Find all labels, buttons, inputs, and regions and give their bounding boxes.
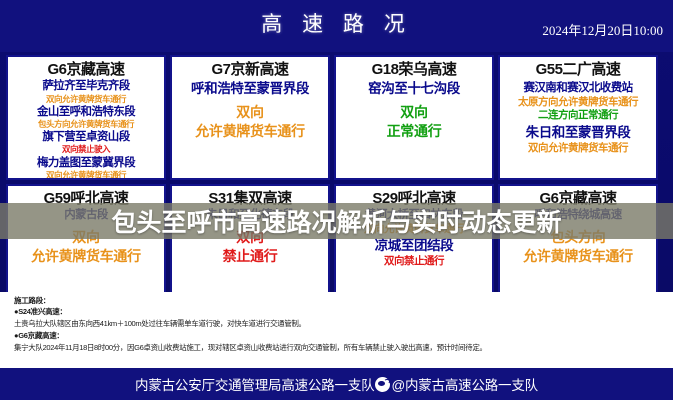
card-title: S31集双高速 (208, 190, 291, 207)
segment-status: 双向允许黄牌货车通行 (11, 94, 161, 105)
segment-name: 赛汉南和赛汉北收费站 (503, 81, 653, 95)
segment-name: 朱日和至化德东段 (175, 208, 325, 222)
construction-notice-panel: 施工路段： ●S24准兴高速： 土贵乌拉大队辖区由东向西41km＋100m处过往… (0, 292, 673, 368)
segment-row: 朱日和至化德东段 双向 禁止通行 (175, 208, 325, 265)
segment-status: 包头方向 (503, 228, 653, 247)
segment-status: 双向 (11, 228, 161, 247)
highway-card-grid: G6京藏高速 萨拉齐至毕克齐段 双向允许黄牌货车通行 金山至呼和浩特东段 包头方… (0, 55, 673, 309)
segment-name: 金山至呼和浩特东段 (11, 105, 161, 119)
segment-row: 呼和浩特绕城高速 包头方向 允许黄牌货车通行 (503, 208, 653, 265)
segment-status: 双向允许黄牌货车通行 (339, 223, 489, 237)
traffic-board: 高 速 路 况 2024年12月20日10:00 G6京藏高速 萨拉齐至毕克齐段… (0, 0, 673, 400)
segment-name: 萨拉齐至毕克齐段 (11, 79, 161, 93)
card-title: G55二广高速 (536, 61, 621, 78)
highway-card-g55-erguang[interactable]: G55二广高速 赛汉南和赛汉北收费站 太原方向允许黄牌货车通行 二连方向正常通行… (498, 55, 658, 180)
segment-status: 包头方向允许黄牌货车通行 (11, 119, 161, 130)
notice-road-s24: ●S24准兴高速： (14, 306, 665, 318)
weibo-icon (375, 377, 390, 392)
segment-row: 呼和浩特至蒙晋界段 双向 允许黄牌货车通行 (175, 81, 325, 141)
card-title: G6京藏高速 (47, 61, 124, 78)
segment-row: 朱日和至蒙晋界段 双向允许黄牌货车通行 (503, 125, 653, 156)
highway-card-zhurihe-huade[interactable]: S31集双高速 朱日和至化德东段 双向 禁止通行 (170, 184, 330, 309)
card-title: G18荣乌高速 (372, 61, 457, 78)
highway-card-g59-hubei[interactable]: G59呼北高速 内蒙古段 双向 允许黄牌货车通行 (6, 184, 166, 309)
segment-status-detail: 允许黄牌货车通行 (11, 247, 161, 266)
notice-text-g6: 集宁大队2024年11月18日8时00分，因G6卓资山收费站施工，现对辖区卓资山… (14, 342, 665, 354)
card-title: G59呼北高速 (44, 190, 129, 207)
highway-card-huhehaote-raocheng[interactable]: G6京藏高速 呼和浩特绕城高速 包头方向 允许黄牌货车通行 (498, 184, 658, 309)
timestamp: 2024年12月20日10:00 (542, 20, 663, 39)
segment-status-detail: 允许黄牌货车通行 (503, 247, 653, 266)
segment-status-detail: 正常通行 (339, 122, 489, 141)
segment-name: 黄河大桥至和林东段 (339, 208, 489, 222)
segment-row: 赛汉南和赛汉北收费站 太原方向允许黄牌货车通行 二连方向正常通行 (503, 81, 653, 123)
segment-status: 双向 (175, 228, 325, 247)
segment-name: 旗下营至卓资山段 (11, 130, 161, 144)
segment-name: 窑沟至十七沟段 (339, 81, 489, 98)
notice-road-g6: ●G6京藏高速： (14, 330, 665, 342)
segment-status: 双向禁止通行 (339, 255, 489, 269)
segment-status: 双向允许黄牌货车通行 (503, 142, 653, 156)
segment-name: 朱日和至蒙晋界段 (503, 125, 653, 142)
highway-card-g6-jingzang[interactable]: G6京藏高速 萨拉齐至毕克齐段 双向允许黄牌货车通行 金山至呼和浩特东段 包头方… (6, 55, 166, 180)
card-title: S29呼北高速 (372, 190, 455, 207)
segment-status-detail: 禁止通行 (175, 247, 325, 266)
highway-card-g7-jingxin[interactable]: G7京新高速 呼和浩特至蒙晋界段 双向 允许黄牌货车通行 (170, 55, 330, 180)
segment-row: 内蒙古段 双向 允许黄牌货车通行 (11, 208, 161, 265)
weibo-handle: @内蒙古高速公路一支队 (391, 374, 538, 394)
agency-name: 内蒙古公安厅交通管理局高速公路一支队 (135, 374, 374, 394)
segment-row: 黄河大桥至和林东段 双向允许黄牌货车通行 (339, 208, 489, 236)
highway-card-g18-rongwu[interactable]: G18荣乌高速 窑沟至十七沟段 双向 正常通行 (334, 55, 494, 180)
board-header: 高 速 路 况 2024年12月20日10:00 (0, 0, 673, 52)
card-title: G6京藏高速 (539, 190, 616, 207)
segment-status-detail: 允许黄牌货车通行 (175, 122, 325, 141)
segment-row: 旗下营至卓资山段 双向禁止驶入 (11, 130, 161, 155)
segment-name: 呼和浩特至蒙晋界段 (175, 81, 325, 98)
notice-heading: 施工路段： (14, 295, 665, 306)
segment-name: 呼和浩特绕城高速 (503, 208, 653, 222)
card-title: G7京新高速 (211, 61, 288, 78)
segment-row: 萨拉齐至毕克齐段 双向允许黄牌货车通行 (11, 79, 161, 104)
segment-name: 梅力盖图至蒙冀界段 (11, 156, 161, 170)
segment-row: 金山至呼和浩特东段 包头方向允许黄牌货车通行 (11, 105, 161, 130)
highway-card-huanghe-daqiao[interactable]: S29呼北高速 黄河大桥至和林东段 双向允许黄牌货车通行 凉城至团结段 双向禁止… (334, 184, 494, 309)
segment-status: 双向允许黄牌货车通行 (11, 170, 161, 180)
segment-name: 凉城至团结段 (339, 238, 489, 255)
segment-status-alt: 二连方向正常通行 (503, 109, 653, 123)
segment-row: 梅力盖图至蒙冀界段 双向允许黄牌货车通行 (11, 156, 161, 180)
board-footer: 内蒙古公安厅交通管理局高速公路一支队 @内蒙古高速公路一支队 (0, 368, 673, 400)
segment-row: 凉城至团结段 双向禁止通行 (339, 238, 489, 269)
segment-status: 双向禁止驶入 (11, 144, 161, 155)
segment-name: 内蒙古段 (11, 208, 161, 222)
notice-text-s24: 土贵乌拉大队辖区由东向西41km＋100m处过往车辆需单车道行驶，对快车道进行交… (14, 318, 665, 330)
segment-status: 双向 (339, 103, 489, 122)
segment-row: 窑沟至十七沟段 双向 正常通行 (339, 81, 489, 141)
segment-status: 双向 (175, 103, 325, 122)
segment-status: 太原方向允许黄牌货车通行 (503, 96, 653, 110)
